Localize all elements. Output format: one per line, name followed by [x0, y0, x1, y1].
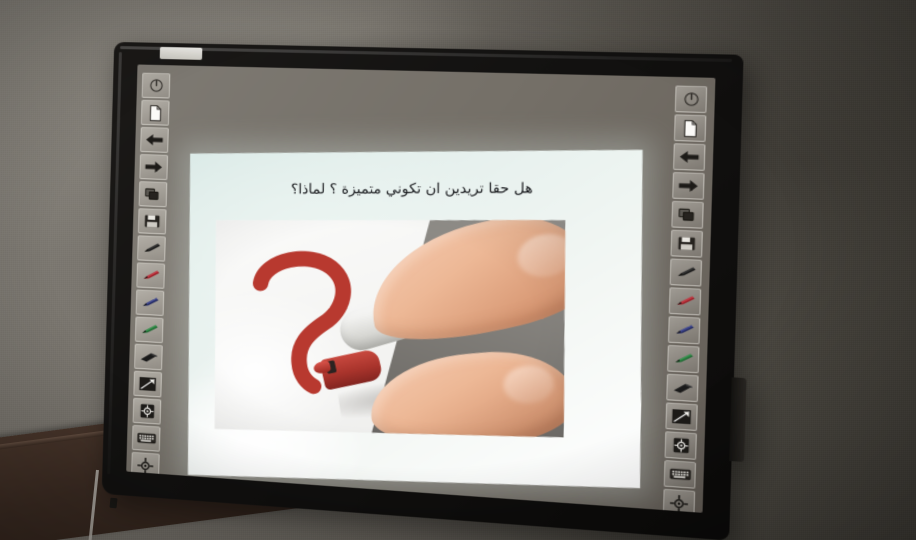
board-label-sticker [160, 47, 203, 60]
eraser-icon[interactable] [666, 374, 698, 403]
wall-mount-bracket [729, 377, 746, 462]
new-page-icon[interactable] [141, 100, 170, 126]
board-writing-surface[interactable]: U [126, 64, 715, 512]
calibrate-icon[interactable] [663, 489, 695, 513]
keyboard-icon[interactable] [664, 460, 696, 489]
thumbnail [502, 363, 556, 405]
toolbar-left[interactable]: U [130, 73, 172, 507]
eraser-icon[interactable] [134, 344, 163, 371]
pen-blue-icon[interactable] [668, 316, 700, 344]
arrow-left-icon[interactable] [673, 143, 706, 171]
slide-title-arabic: هل حقا تريدين ان تكوني متميزة ؟ لماذا؟ [208, 178, 622, 201]
interactive-whiteboard[interactable]: U [102, 42, 744, 540]
power-icon[interactable] [675, 85, 708, 113]
power-icon[interactable] [142, 73, 171, 99]
pen-black-icon[interactable] [670, 258, 702, 286]
select-layers-icon[interactable] [671, 201, 704, 229]
keyboard-icon[interactable] [132, 425, 161, 452]
slide-photo [215, 220, 566, 437]
highlighter-icon[interactable] [133, 371, 162, 398]
pen-green-icon[interactable] [667, 345, 699, 373]
board-frame: U [102, 42, 744, 540]
pen-black-icon[interactable] [137, 235, 166, 261]
select-layers-icon[interactable] [139, 181, 168, 207]
arrow-right-icon[interactable] [672, 172, 705, 200]
fingernail [513, 229, 565, 282]
new-page-icon[interactable] [674, 114, 707, 142]
calibrate-icon[interactable] [131, 452, 160, 479]
room-scene: U [0, 0, 916, 540]
save-icon[interactable] [670, 230, 703, 258]
projected-slide: هل حقا تريدين ان تكوني متميزة ؟ لماذا؟ [188, 150, 643, 488]
arrow-right-icon[interactable] [139, 154, 168, 180]
arrow-left-icon[interactable] [140, 127, 169, 153]
pen-red-icon[interactable] [669, 287, 701, 315]
highlighter-icon[interactable] [665, 402, 697, 431]
pen-red-icon[interactable] [136, 262, 165, 288]
toolbar-right[interactable]: U [662, 85, 710, 512]
cable-clip [109, 498, 117, 509]
save-icon[interactable] [138, 208, 167, 234]
pen-blue-icon[interactable] [136, 289, 165, 316]
settings-icon[interactable] [664, 431, 696, 460]
pen-green-icon[interactable] [135, 317, 164, 344]
settings-icon[interactable] [133, 398, 162, 425]
